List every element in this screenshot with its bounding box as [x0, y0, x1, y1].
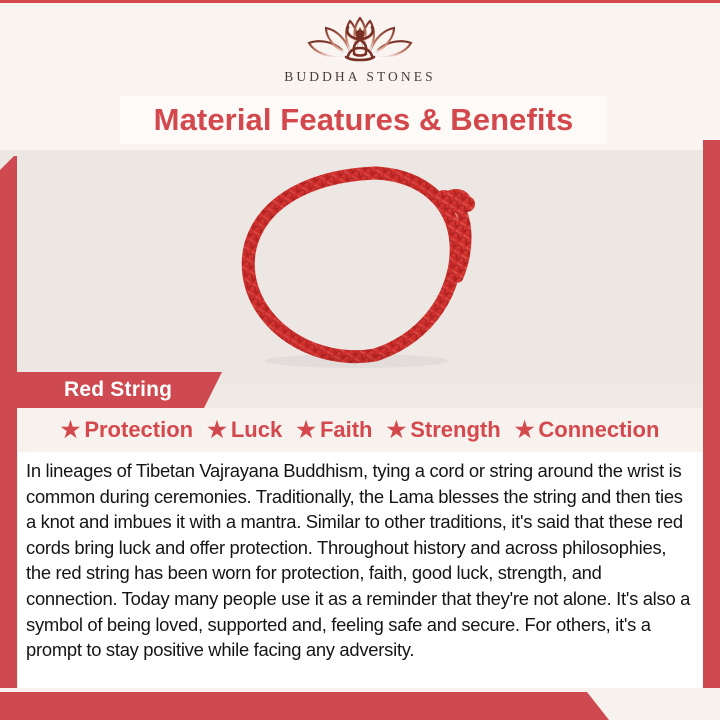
benefit-label: Strength [410, 417, 500, 443]
benefit-item-connection: ★ Connection [515, 417, 660, 443]
right-accent-bar [703, 140, 720, 720]
description-text: In lineages of Tibetan Vajrayana Buddhis… [26, 458, 693, 663]
star-icon: ★ [61, 419, 81, 441]
product-name-label: Red String [64, 378, 172, 402]
benefit-label: Protection [84, 417, 193, 443]
star-icon: ★ [515, 419, 535, 441]
star-icon: ★ [207, 419, 227, 441]
brand-name: BUDDHA STONES [284, 69, 435, 85]
benefits-list: ★ Protection ★ Luck ★ Faith ★ Strength ★… [17, 408, 703, 452]
benefit-item-faith: ★ Faith [296, 417, 372, 443]
product-image-area [17, 150, 703, 382]
brand-logo: BUDDHA STONES [0, 12, 720, 90]
title-banner: Material Features & Benefits [120, 96, 607, 144]
benefit-item-strength: ★ Strength [387, 417, 501, 443]
benefit-item-luck: ★ Luck [207, 417, 282, 443]
page-title: Material Features & Benefits [154, 102, 574, 138]
lotus-meditation-icon [298, 12, 422, 68]
benefit-label: Connection [538, 417, 659, 443]
product-name-ribbon: Red String [0, 372, 240, 408]
red-string-bracelet-image [225, 159, 495, 374]
description-panel: In lineages of Tibetan Vajrayana Buddhis… [18, 452, 703, 688]
star-icon: ★ [296, 419, 316, 441]
benefit-item-protection: ★ Protection [61, 417, 194, 443]
star-icon: ★ [387, 419, 407, 441]
top-accent-line [0, 0, 720, 3]
benefit-label: Luck [231, 417, 282, 443]
left-accent-bar [0, 156, 17, 720]
benefit-label: Faith [320, 417, 373, 443]
infographic-page: BUDDHA STONES Material Features & Benefi… [0, 0, 720, 720]
